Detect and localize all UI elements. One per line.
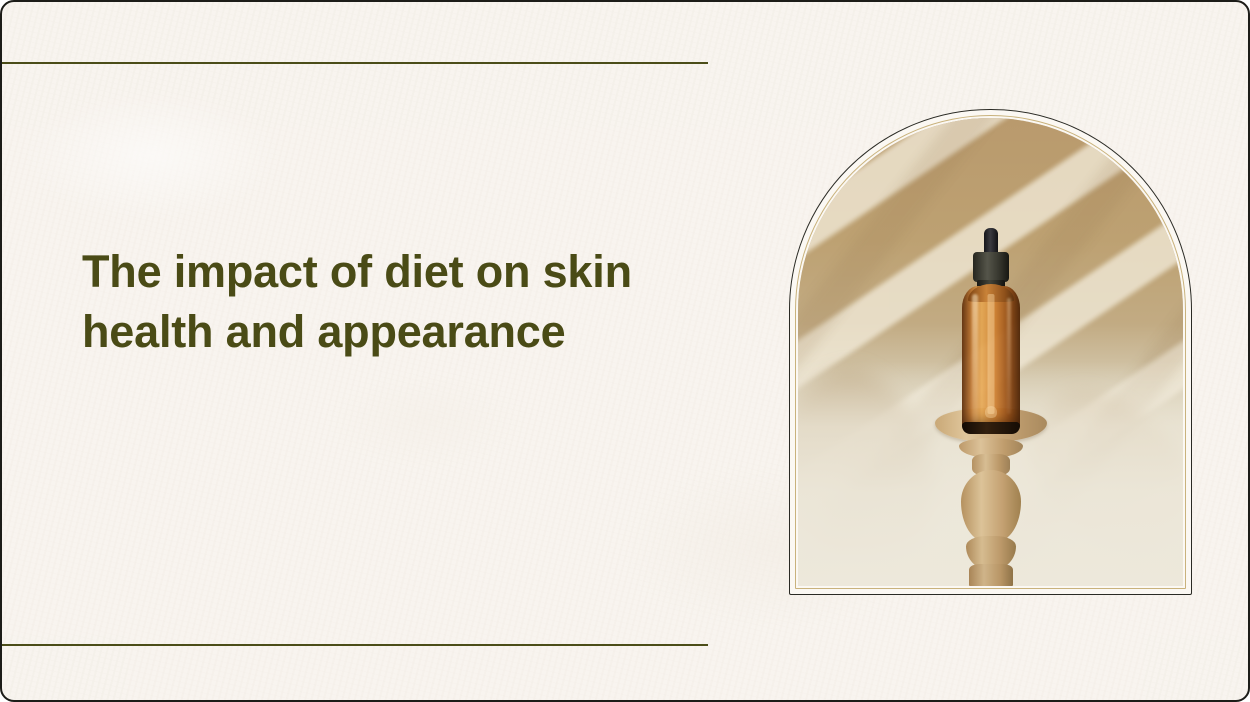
- hero-photo: [798, 118, 1183, 586]
- wooden-pedestal: [935, 408, 1047, 586]
- title-block: The impact of diet on skin health and ap…: [82, 242, 642, 362]
- pedestal-belly: [961, 470, 1021, 542]
- page-title: The impact of diet on skin health and ap…: [82, 242, 642, 362]
- pedestal-base: [969, 564, 1013, 586]
- serum-bottle: [960, 228, 1022, 434]
- bottle-highlight-right: [1007, 298, 1011, 414]
- pipette-stem: [987, 294, 994, 414]
- dropper-cap: [973, 252, 1009, 282]
- top-divider-rule: [2, 62, 708, 64]
- pipette-stem-tip: [985, 406, 997, 418]
- arch-outline: [789, 109, 1192, 595]
- bottom-divider-rule: [2, 644, 708, 646]
- bottle-base: [962, 422, 1020, 434]
- slide-canvas: The impact of diet on skin health and ap…: [0, 0, 1250, 702]
- hero-image-frame: [789, 109, 1192, 595]
- bottle-highlight-left: [972, 294, 978, 422]
